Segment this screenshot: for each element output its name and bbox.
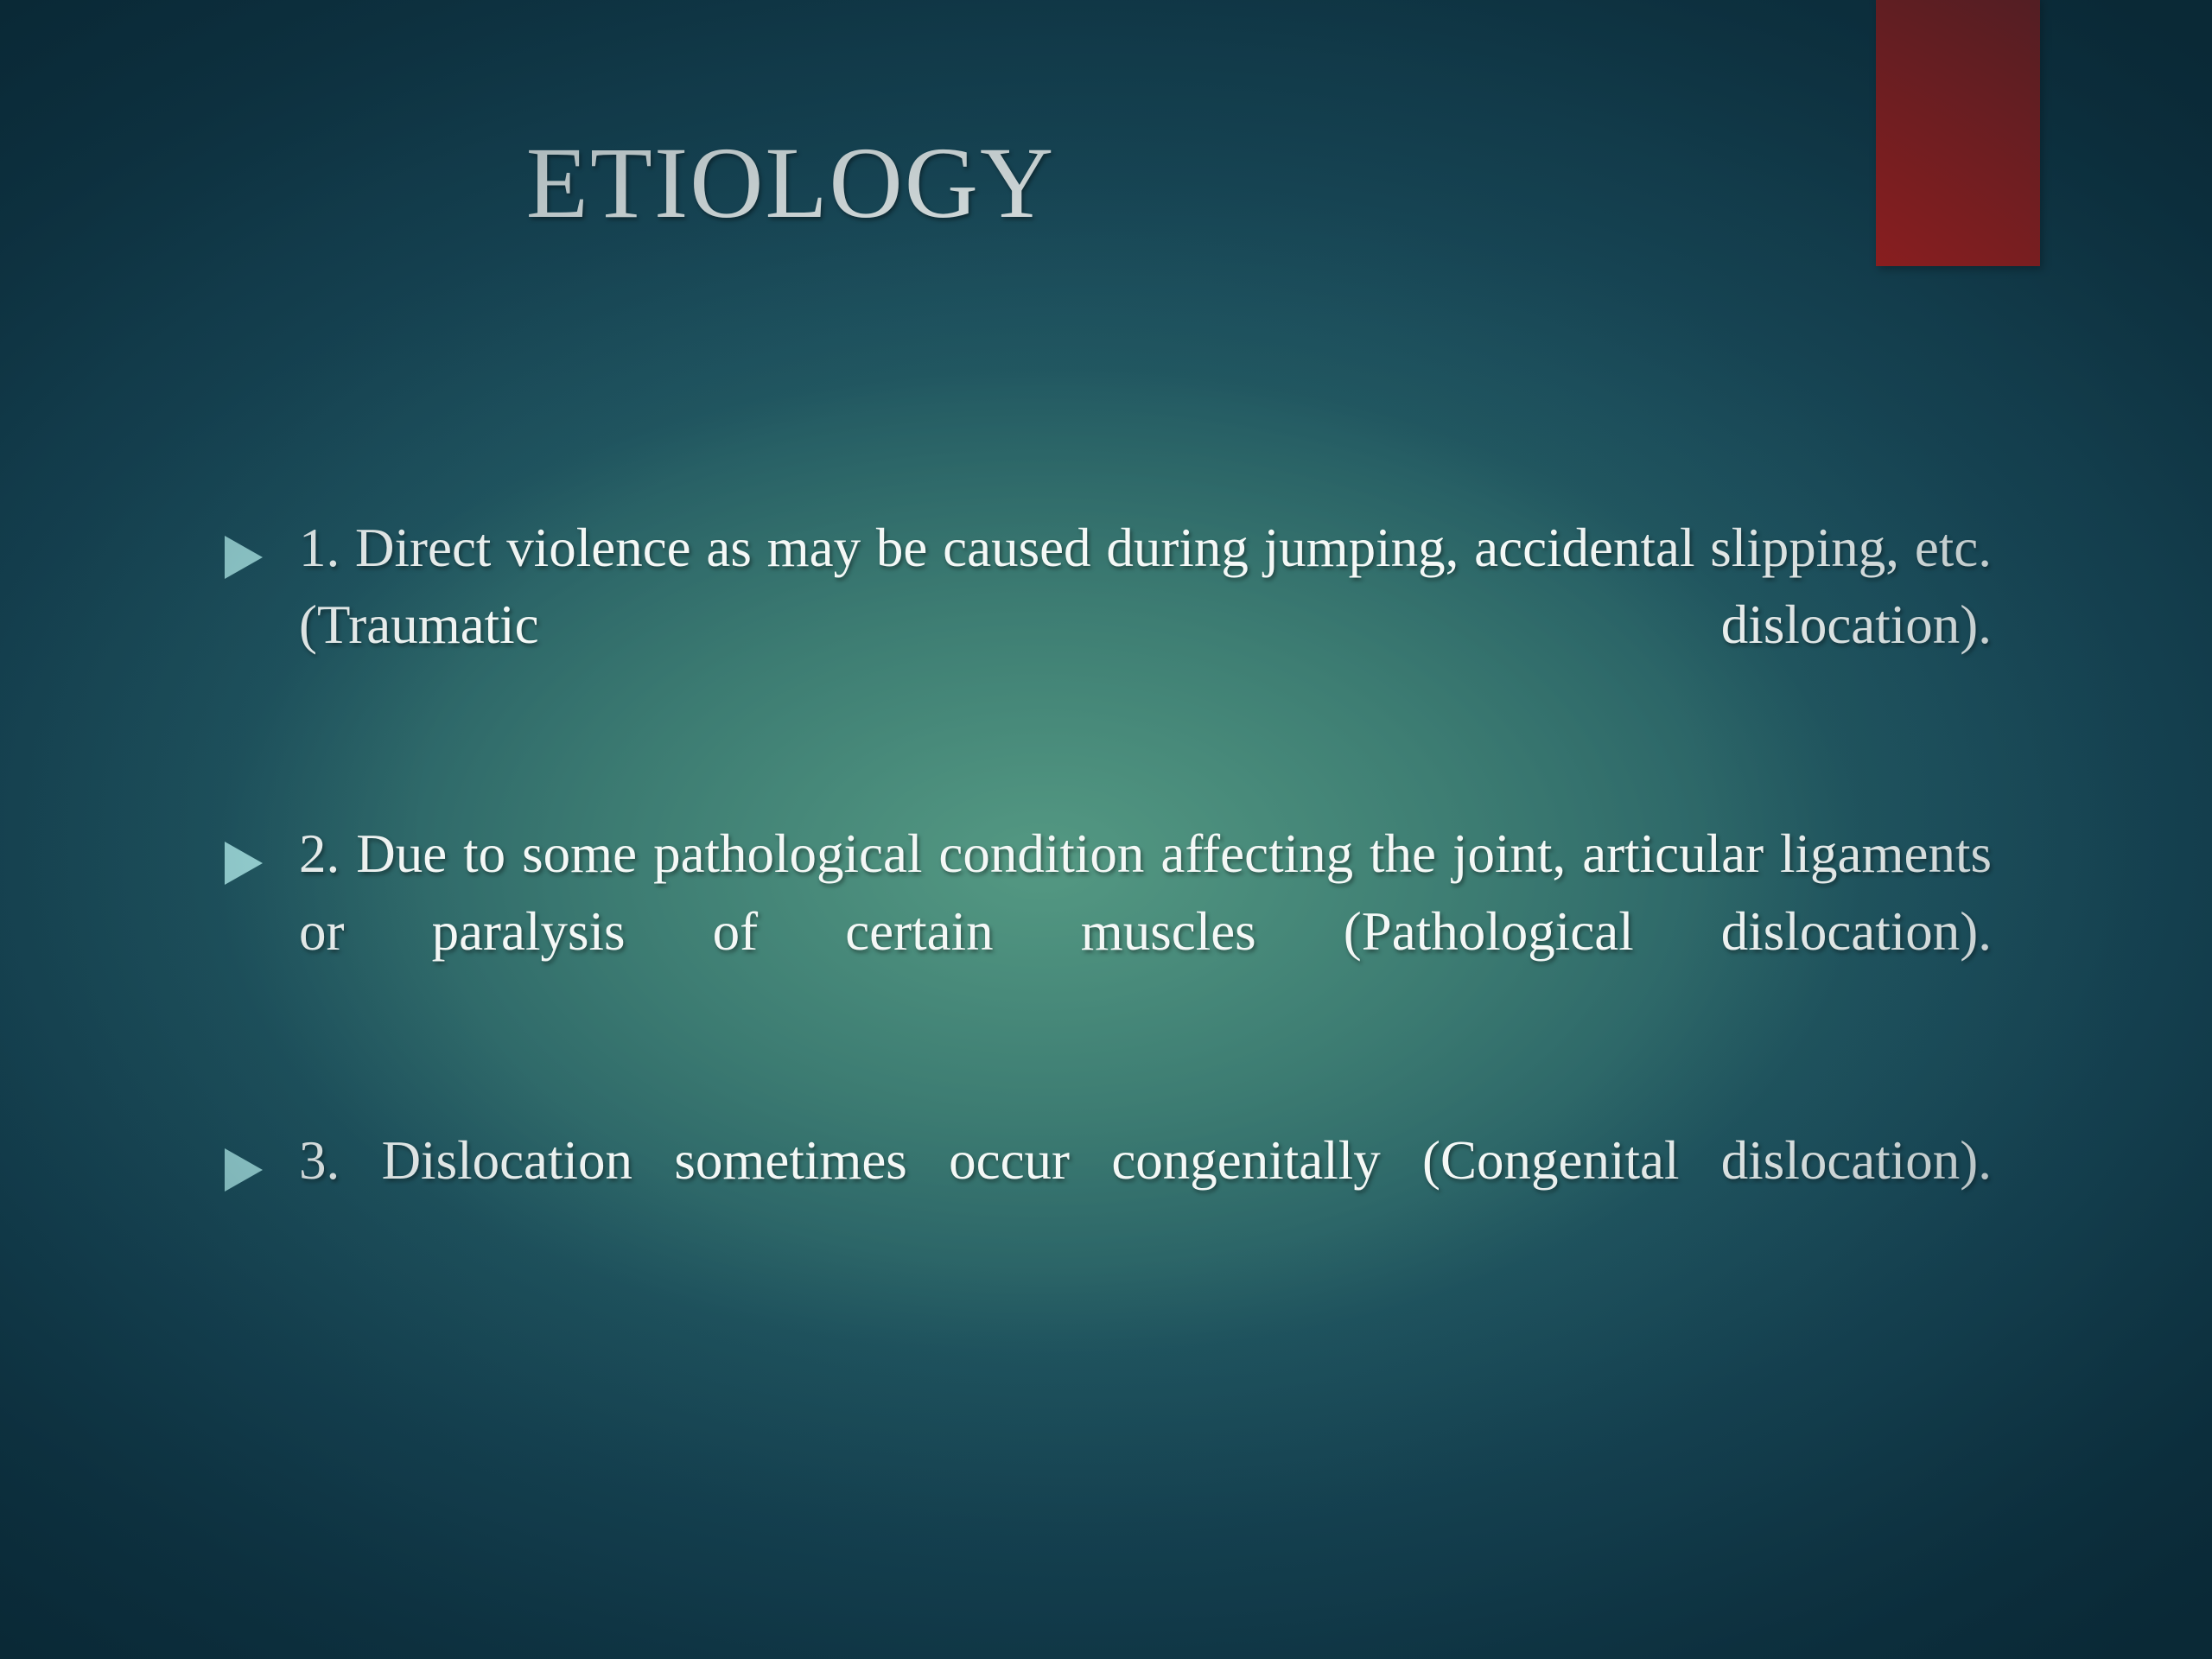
accent-red-rectangle	[1876, 0, 2040, 266]
bullet-text: 3. Dislocation sometimes occur congenita…	[299, 1122, 1992, 1277]
bullet-text: 2. Due to some pathological condition af…	[299, 816, 1992, 1047]
bullet-item: 3. Dislocation sometimes occur congenita…	[216, 1122, 1992, 1277]
triangle-right-icon	[216, 816, 299, 890]
triangle-right-icon	[216, 510, 299, 584]
bullet-text: 1. Direct violence as may be caused duri…	[299, 510, 1992, 741]
presentation-slide: ETIOLOGY 1. Direct violence as may be ca…	[0, 0, 2212, 1659]
bullet-item: 1. Direct violence as may be caused duri…	[216, 510, 1992, 741]
slide-title: ETIOLOGY	[0, 130, 1581, 237]
triangle-right-icon	[216, 1122, 299, 1197]
bullet-item: 2. Due to some pathological condition af…	[216, 816, 1992, 1047]
slide-body: 1. Direct violence as may be caused duri…	[216, 510, 1992, 1277]
